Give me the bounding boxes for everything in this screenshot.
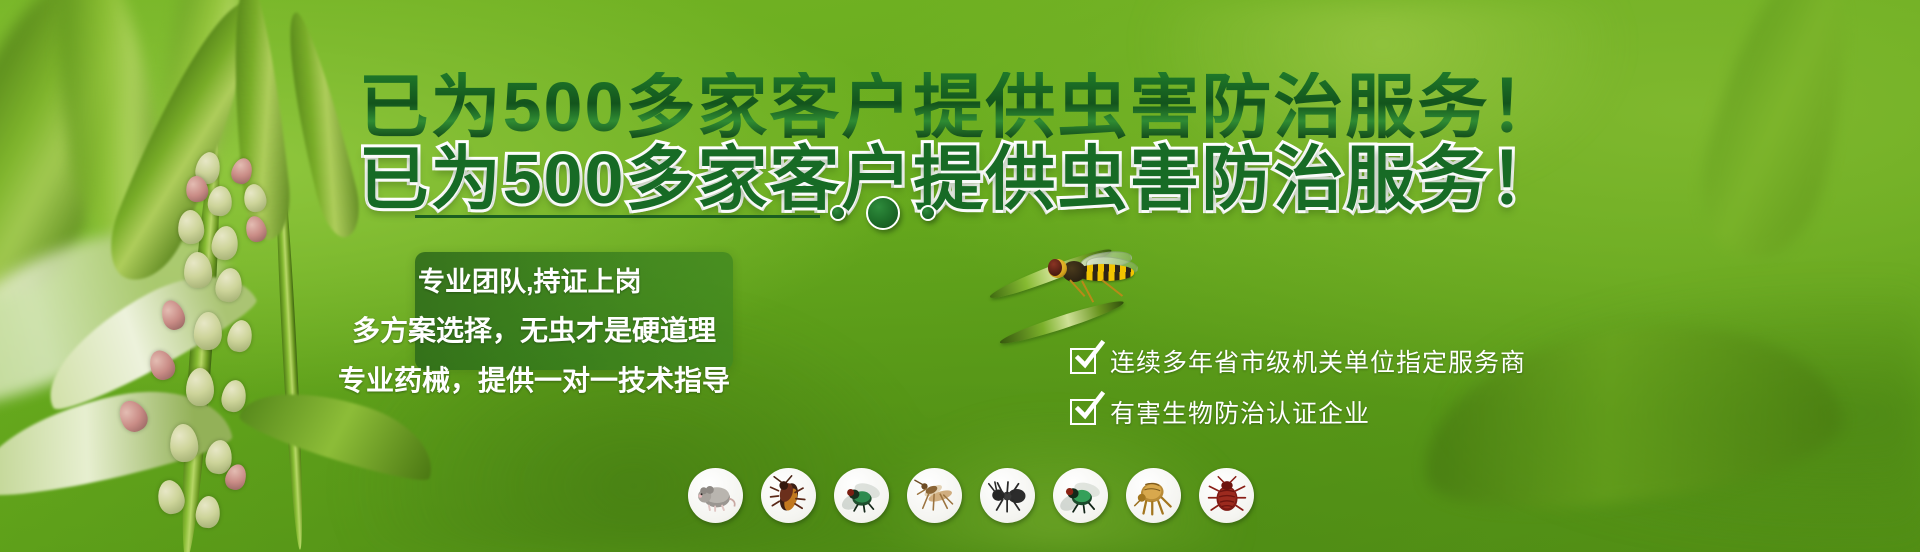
certification-label: 连续多年省市级机关单位指定服务商 — [1110, 343, 1526, 379]
mosquito-icon[interactable] — [907, 468, 962, 523]
bedbug-icon[interactable] — [1199, 468, 1254, 523]
plant-bud — [194, 495, 221, 529]
plant-bud — [186, 368, 214, 406]
checkbox-checked-icon — [1070, 399, 1096, 425]
promo-banner: 已为500多家客户提供虫害防治服务！ 已为500多家客户提供虫害防治服务！ 专业… — [0, 0, 1920, 552]
certification-label: 有害生物防治认证企业 — [1110, 394, 1370, 430]
list-item: 连续多年省市级机关单位指定服务商 — [1070, 336, 1526, 386]
list-item: 有害生物防治认证企业 — [1070, 387, 1526, 437]
divider — [415, 215, 820, 218]
blowfly-icon[interactable] — [1053, 468, 1108, 523]
headline-group: 已为500多家客户提供虫害防治服务！ 已为500多家客户提供虫害防治服务！ — [0, 72, 1920, 152]
fly-icon[interactable] — [834, 468, 889, 523]
decor-dot-small — [830, 205, 846, 221]
headline-stroke: 已为500多家客户提供虫害防治服务！ — [0, 144, 1920, 214]
ant-icon[interactable] — [980, 468, 1035, 523]
certification-list: 连续多年省市级机关单位指定服务商 有害生物防治认证企业 — [1070, 336, 1526, 437]
flea-icon[interactable] — [1126, 468, 1181, 523]
cockroach-icon[interactable] — [761, 468, 816, 523]
decor-dot-large — [866, 196, 900, 230]
hoverfly-leg — [1101, 279, 1123, 297]
hoverfly-photo — [1046, 248, 1156, 296]
checkbox-checked-icon — [1070, 348, 1096, 374]
plant-bud — [177, 209, 205, 245]
page-title: 已为500多家客户提供虫害防治服务！ — [0, 72, 1920, 142]
pest-icon-strip — [688, 468, 1254, 523]
panel-line-1: 专业团队,持证上岗 — [418, 258, 1380, 306]
hoverfly-eye — [1048, 259, 1062, 276]
decor-dot-small — [920, 205, 936, 221]
rodent-icon[interactable] — [688, 468, 743, 523]
